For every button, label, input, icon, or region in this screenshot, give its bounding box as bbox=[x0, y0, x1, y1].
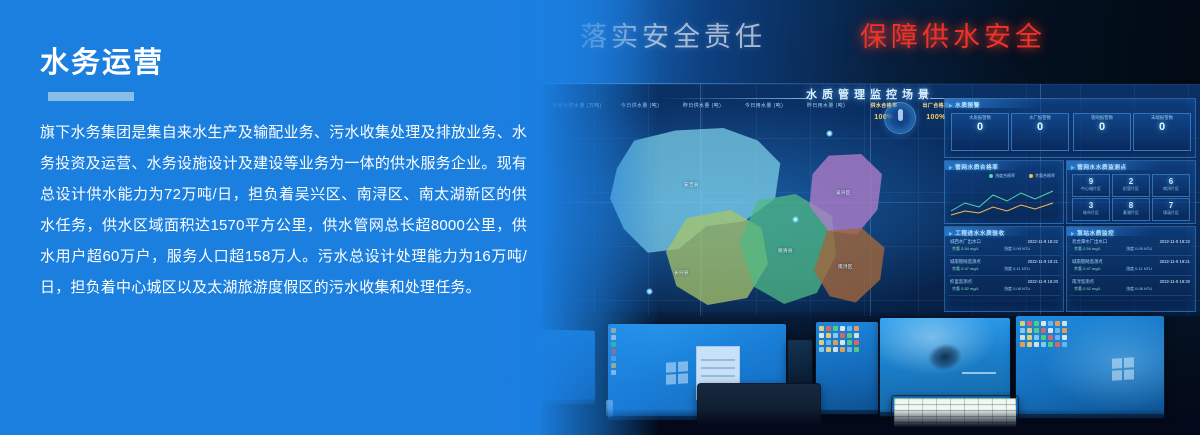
log-metric-1: 余氯 0.47 mg/L bbox=[952, 266, 979, 272]
folder-icon[interactable] bbox=[826, 333, 831, 338]
log-row[interactable]: 城南管网监测点 2022-11-9 18:21 余氯 0.47 mg/L 浊度 … bbox=[948, 259, 1060, 276]
file-icon[interactable] bbox=[1041, 321, 1046, 326]
map-region-label-4: 南浔区 bbox=[838, 264, 853, 270]
dialog-line bbox=[701, 375, 735, 377]
panel-qualified-rate: 管网水质合格率 浊度合格率 余氯合格率 bbox=[944, 160, 1064, 224]
site-box[interactable]: 6 南浔片区 bbox=[1152, 174, 1190, 197]
folder-icon[interactable] bbox=[819, 326, 824, 331]
status-gauge bbox=[884, 102, 916, 134]
desk-shadow bbox=[540, 409, 1200, 435]
site-caption: 织里片区 bbox=[1113, 186, 1149, 192]
banner-slogan-right: 保障供水安全 bbox=[860, 24, 1046, 51]
monitor-icons[interactable] bbox=[816, 322, 878, 414]
alarm-stat-box[interactable]: 水厂报警数 0 bbox=[1011, 113, 1069, 151]
text-content: 水务运营 旗下水务集团是集自来水生产及输配业务、污水收集处理及排放业务、水务投资… bbox=[40, 48, 540, 303]
app-icon[interactable] bbox=[1020, 342, 1025, 347]
video-wall-dashboard: 水质管理监控场景 年累计供水量 (万吨) 今日供水量 (吨) 昨日供水量 (吨)… bbox=[540, 84, 1200, 316]
log-metric-2: 浊度 0.08 NTU bbox=[1126, 286, 1152, 292]
log-metric-1: 余氯 0.54 mg/L bbox=[952, 246, 979, 252]
app-icon[interactable] bbox=[1041, 335, 1046, 340]
map-marker[interactable] bbox=[792, 216, 799, 223]
file-icon[interactable] bbox=[1020, 335, 1025, 340]
folder-icon[interactable] bbox=[1027, 328, 1032, 333]
log-name: 老虎潭水厂出水口 bbox=[1072, 239, 1107, 245]
kpi-label: 昨日供水量 (吨) bbox=[683, 103, 721, 109]
app-icon[interactable] bbox=[854, 340, 859, 345]
log-time: 2022-11-9 18:20 bbox=[1160, 279, 1190, 284]
log-metric-2: 浊度 0.09 NTU bbox=[1004, 246, 1030, 252]
file-icon[interactable] bbox=[611, 335, 616, 340]
log-row[interactable]: 城南管网监测点 2022-11-9 18:21 余氯 0.47 mg/L 浊度 … bbox=[1070, 259, 1192, 276]
site-box[interactable]: 8 菱湖片区 bbox=[1112, 198, 1150, 221]
site-count: 9 bbox=[1073, 177, 1109, 186]
app-icon[interactable] bbox=[611, 356, 616, 361]
banner-module: 落实安全责任 保障供水安全 水质管理监控场景 年累计供水量 (万吨) 今日供水量 bbox=[0, 0, 1200, 435]
app-icon[interactable] bbox=[1062, 342, 1067, 347]
alarm-stat-value: 0 bbox=[1012, 121, 1068, 133]
log-metric-1: 余氯 0.54 mg/L bbox=[1074, 246, 1101, 252]
kpi-label: 今日供水量 (吨) bbox=[621, 103, 659, 109]
site-count: 7 bbox=[1153, 201, 1189, 210]
monitor-left[interactable] bbox=[540, 329, 595, 404]
app-icon[interactable] bbox=[1062, 328, 1067, 333]
map-region-label-1: 长兴县 bbox=[674, 270, 689, 276]
site-count: 8 bbox=[1113, 201, 1149, 210]
panel-title-station: 泵站水质监控 bbox=[1071, 229, 1114, 237]
kpi-item: 年累计供水量 (万吨) bbox=[546, 102, 608, 114]
app-icon[interactable] bbox=[1041, 328, 1046, 333]
map-marker[interactable] bbox=[646, 288, 653, 295]
monitor-narrow-screen bbox=[788, 340, 812, 384]
app-icon[interactable] bbox=[1055, 335, 1060, 340]
banner-slogan-left: 落实安全责任 bbox=[580, 24, 766, 51]
alarm-stat-box[interactable]: 末端报警数 0 bbox=[1133, 113, 1191, 151]
folder-icon[interactable] bbox=[611, 328, 616, 333]
log-row[interactable]: 城西水厂出水口 2022-11-9 18:22 余氯 0.54 mg/L 浊度 … bbox=[948, 239, 1060, 256]
app-icon[interactable] bbox=[1055, 321, 1060, 326]
dialog-line bbox=[701, 367, 735, 369]
dialog-line bbox=[701, 359, 735, 361]
log-metric-1: 余氯 0.52 mg/L bbox=[952, 286, 979, 292]
log-time: 2022-11-9 18:21 bbox=[1028, 259, 1058, 264]
log-metric-2: 浊度 0.08 NTU bbox=[1004, 286, 1030, 292]
panel-title-quality-check: 工程进水水质验收 bbox=[949, 229, 1005, 237]
panel-station-quality: 泵站水质监控 老虎潭水厂出水口 2022-11-9 18:22 余氯 0.54 … bbox=[1066, 226, 1196, 312]
legend-label: 浊度合格率 bbox=[995, 173, 1015, 178]
title-underline bbox=[48, 92, 134, 101]
map-marker[interactable] bbox=[826, 130, 833, 137]
map-region-label-2: 德清县 bbox=[778, 248, 793, 254]
site-box[interactable]: 3 练市片区 bbox=[1072, 198, 1110, 221]
app-icon[interactable] bbox=[1055, 342, 1060, 347]
app-icon[interactable] bbox=[833, 333, 838, 338]
file-icon[interactable] bbox=[840, 340, 845, 345]
rate-line-chart bbox=[949, 185, 1059, 219]
app-icon[interactable] bbox=[847, 340, 852, 345]
map-region-label-0: 安吉县 bbox=[684, 182, 699, 188]
alarm-stat-value: 0 bbox=[1074, 121, 1130, 133]
region-map: 安吉县 长兴县 德清县 吴兴区 南浔区 bbox=[610, 120, 910, 316]
log-time: 2022-11-9 18:21 bbox=[1160, 259, 1190, 264]
page-title: 水务运营 bbox=[40, 48, 540, 80]
app-icon[interactable] bbox=[847, 326, 852, 331]
screen-caption-line bbox=[962, 372, 996, 374]
folder-icon[interactable] bbox=[1027, 342, 1032, 347]
desktop-icon-grid[interactable] bbox=[819, 326, 859, 352]
chart-legend-item: 余氯合格率 bbox=[1029, 173, 1055, 179]
kpi-label: 昨日用水量 (吨) bbox=[807, 103, 845, 109]
alarm-stat-box[interactable]: 水质报警数 0 bbox=[951, 113, 1009, 151]
panel-title-sites: 管网水水质监测点 bbox=[1071, 163, 1127, 171]
app-icon[interactable] bbox=[1048, 342, 1053, 347]
site-caption: 南浔片区 bbox=[1153, 186, 1189, 192]
app-icon[interactable] bbox=[1055, 328, 1060, 333]
log-name: 城南管网监测点 bbox=[1072, 259, 1103, 265]
alarm-stat-box[interactable]: 管网报警数 0 bbox=[1073, 113, 1131, 151]
kpi-item: 今日用水量 (吨) bbox=[734, 102, 794, 114]
app-icon[interactable] bbox=[854, 347, 859, 352]
site-box[interactable]: 9 中心城片区 bbox=[1072, 174, 1110, 197]
app-icon[interactable] bbox=[833, 340, 838, 345]
log-row[interactable]: 织里监测点 2022-11-9 18:20 余氯 0.52 mg/L 浊度 0.… bbox=[948, 279, 1060, 296]
led-banner: 落实安全责任 保障供水安全 bbox=[540, 0, 1200, 86]
site-caption: 中心城片区 bbox=[1073, 186, 1109, 192]
log-name: 城南管网监测点 bbox=[950, 259, 981, 265]
kpi-label: 年累计供水量 (万吨) bbox=[552, 103, 601, 109]
app-icon[interactable] bbox=[611, 342, 616, 347]
app-icon[interactable] bbox=[840, 347, 845, 352]
operator-desk bbox=[540, 312, 1200, 435]
app-icon[interactable] bbox=[1048, 335, 1053, 340]
log-time: 2022-11-9 18:20 bbox=[1028, 279, 1058, 284]
kpi-item: 昨日用水量 (吨) bbox=[796, 102, 856, 114]
log-row[interactable]: 南浔监测点 2022-11-9 18:20 余氯 0.52 mg/L 浊度 0.… bbox=[1070, 279, 1192, 296]
body-paragraph: 旗下水务集团是集自来水生产及输配业务、污水收集处理及排放业务、水务投资及运营、水… bbox=[40, 117, 527, 303]
desktop-icon-grid[interactable] bbox=[1020, 321, 1067, 347]
file-icon[interactable] bbox=[854, 333, 859, 338]
log-metric-2: 浊度 0.11 NTU bbox=[1004, 266, 1030, 272]
log-name: 织里监测点 bbox=[950, 279, 972, 285]
log-metric-2: 浊度 0.09 NTU bbox=[1126, 246, 1152, 252]
site-box[interactable]: 7 埭溪片区 bbox=[1152, 198, 1190, 221]
file-icon[interactable] bbox=[819, 333, 824, 338]
site-caption: 菱湖片区 bbox=[1113, 210, 1149, 216]
log-name: 城西水厂出水口 bbox=[950, 239, 981, 245]
map-region-label-3: 吴兴区 bbox=[836, 190, 851, 196]
app-icon[interactable] bbox=[854, 326, 859, 331]
log-time: 2022-11-9 18:22 bbox=[1028, 239, 1058, 244]
monitor-windows[interactable] bbox=[1016, 316, 1164, 418]
log-metric-1: 余氯 0.47 mg/L bbox=[1074, 266, 1101, 272]
folder-icon[interactable] bbox=[826, 347, 831, 352]
kpi-item: 今日供水量 (吨) bbox=[610, 102, 670, 114]
file-icon[interactable] bbox=[840, 326, 845, 331]
app-icon[interactable] bbox=[826, 340, 831, 345]
alarm-stat-value: 0 bbox=[1134, 121, 1190, 133]
app-icon[interactable] bbox=[1041, 342, 1046, 347]
file-icon[interactable] bbox=[611, 370, 616, 375]
log-metric-1: 余氯 0.52 mg/L bbox=[1074, 286, 1101, 292]
panel-title-rate: 管网水质合格率 bbox=[949, 163, 999, 171]
legend-swatch bbox=[1029, 174, 1033, 178]
chart-legend-item: 浊度合格率 bbox=[989, 173, 1015, 179]
file-icon[interactable] bbox=[1062, 321, 1067, 326]
app-icon[interactable] bbox=[847, 333, 852, 338]
app-icon[interactable] bbox=[1048, 321, 1053, 326]
app-icon[interactable] bbox=[819, 347, 824, 352]
alarm-stat-value: 0 bbox=[952, 121, 1008, 133]
desktop-icon-grid[interactable] bbox=[611, 328, 616, 375]
panel-water-alarm: 水质报警 水质报警数 0 水厂报警数 0 管网报警数 0 末端报警数 0 bbox=[944, 98, 1196, 158]
app-icon[interactable] bbox=[1020, 328, 1025, 333]
panel-monitor-sites: 管网水水质监测点 9 中心城片区 2 织里片区 6 南浔片区 3 练市片区 bbox=[1066, 160, 1196, 224]
folder-icon[interactable] bbox=[1027, 335, 1032, 340]
app-icon[interactable] bbox=[1034, 328, 1039, 333]
folder-icon[interactable] bbox=[611, 363, 616, 368]
kpi-label: 今日用水量 (吨) bbox=[745, 103, 783, 109]
kpi-item: 昨日供水量 (吨) bbox=[672, 102, 732, 114]
site-count: 2 bbox=[1113, 177, 1149, 186]
log-time: 2022-11-9 18:22 bbox=[1160, 239, 1190, 244]
site-count: 3 bbox=[1073, 201, 1109, 210]
panel-title-alarm: 水质报警 bbox=[949, 101, 980, 109]
app-icon[interactable] bbox=[1034, 335, 1039, 340]
windows-logo-icon bbox=[666, 361, 688, 385]
log-name: 南浔监测点 bbox=[1072, 279, 1094, 285]
app-icon[interactable] bbox=[847, 347, 852, 352]
app-icon[interactable] bbox=[833, 326, 838, 331]
app-icon[interactable] bbox=[826, 326, 831, 331]
file-icon[interactable] bbox=[1062, 335, 1067, 340]
file-icon[interactable] bbox=[1034, 342, 1039, 347]
panel-quality-check: 工程进水水质验收 城西水厂出水口 2022-11-9 18:22 余氯 0.54… bbox=[944, 226, 1064, 312]
app-icon[interactable] bbox=[1034, 321, 1039, 326]
log-row[interactable]: 老虎潭水厂出水口 2022-11-9 18:22 余氯 0.54 mg/L 浊度… bbox=[1070, 239, 1192, 256]
site-caption: 练市片区 bbox=[1073, 210, 1109, 216]
app-icon[interactable] bbox=[1027, 321, 1032, 326]
file-icon[interactable] bbox=[1048, 328, 1053, 333]
monitor-narrow[interactable] bbox=[788, 340, 812, 384]
legend-swatch bbox=[989, 174, 993, 178]
taskbar bbox=[540, 399, 595, 404]
windows-logo-icon bbox=[1112, 357, 1134, 381]
folder-icon[interactable] bbox=[819, 340, 824, 345]
site-count: 6 bbox=[1153, 177, 1189, 186]
site-box[interactable]: 2 织里片区 bbox=[1112, 174, 1150, 197]
monitor-left-screen bbox=[540, 329, 595, 404]
file-icon[interactable] bbox=[833, 347, 838, 352]
legend-label: 余氯合格率 bbox=[1035, 173, 1055, 178]
app-icon[interactable] bbox=[840, 333, 845, 338]
site-caption: 埭溪片区 bbox=[1153, 210, 1189, 216]
control-room-photo: 落实安全责任 保障供水安全 水质管理监控场景 年累计供水量 (万吨) 今日供水量 bbox=[540, 0, 1200, 435]
folder-icon[interactable] bbox=[1020, 321, 1025, 326]
log-metric-2: 浊度 0.11 NTU bbox=[1126, 266, 1152, 272]
app-icon[interactable] bbox=[611, 349, 616, 354]
